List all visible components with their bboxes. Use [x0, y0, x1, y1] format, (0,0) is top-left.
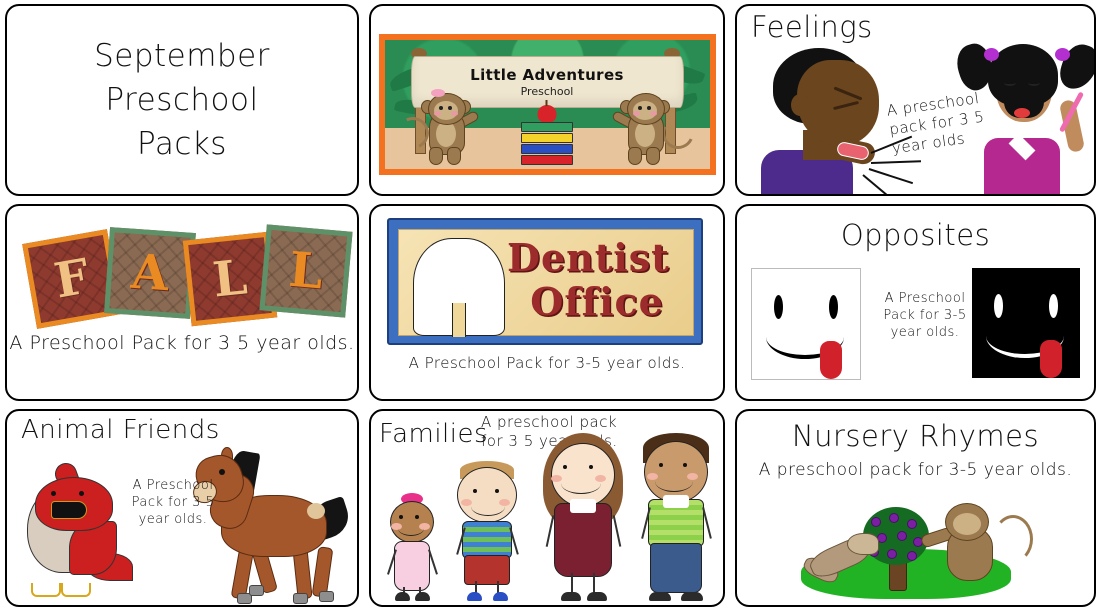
child-pants [650, 543, 702, 593]
child-shoe [649, 592, 671, 601]
child-eye [589, 465, 593, 469]
child-eye [683, 463, 687, 467]
monkey-leg [429, 147, 443, 165]
monkey-eye [647, 106, 651, 110]
nursery-rhymes-caption: A preschool pack for 3-5 year olds. [737, 461, 1094, 480]
child-smile [471, 497, 505, 516]
bird-foot [61, 583, 91, 597]
animal-friends-heading: Animal Friends [21, 415, 220, 445]
monkey-leg [628, 147, 642, 165]
tooth-icon [413, 238, 505, 336]
girl-tongue [1014, 108, 1030, 118]
banner-wrap: Little Adventures Preschool [371, 34, 723, 175]
banner-subtitle: Preschool [521, 85, 574, 98]
child-shorts [464, 555, 510, 585]
page-title-line-3: Packs [7, 122, 357, 166]
child-eye [473, 489, 477, 493]
card-fall[interactable]: F A L L A Preschool Pack for 3 5 year ol… [5, 204, 359, 401]
child-leg [593, 573, 595, 593]
hair-bow-icon [1055, 48, 1070, 61]
smiley-eye [1049, 294, 1058, 318]
child-collar [663, 495, 689, 508]
dentist-caption: A Preschool Pack for 3-5 year olds. [371, 354, 723, 373]
child-shoe [681, 592, 703, 601]
berry-icon [871, 517, 881, 527]
child-shoe [587, 592, 607, 601]
card-nursery-rhymes[interactable]: Nursery Rhymes A preschool pack for 3-5 … [735, 409, 1096, 607]
bird-eye [51, 491, 56, 496]
jungle-scene: Little Adventures Preschool [385, 40, 710, 169]
horse-hoof [249, 585, 264, 596]
child-leg [571, 573, 573, 593]
smiley-light-panel [751, 268, 861, 380]
smiley-tongue [820, 341, 842, 379]
book-stack [521, 121, 573, 165]
monkey-cheek [451, 111, 458, 116]
bird-foot [31, 583, 61, 597]
shout-line [871, 160, 921, 164]
horse-spot [307, 503, 325, 519]
monkey-left [415, 91, 477, 165]
bird-beak [51, 501, 87, 519]
mulberry-bush-scene [801, 487, 1031, 599]
monkey-eye [448, 106, 452, 110]
cell-little-adventures: Little Adventures Preschool [364, 0, 730, 200]
horse-eye [219, 469, 225, 475]
nursery-rhymes-heading: Nursery Rhymes [737, 419, 1094, 453]
card-september-preschool-packs[interactable]: September Preschool Packs [5, 4, 359, 196]
page-title-line-2: Preschool [7, 78, 357, 122]
bird-eye [79, 491, 84, 496]
monkey-eye [439, 106, 443, 110]
child-shoe [415, 592, 430, 601]
monkey-cheek [633, 111, 640, 116]
preschool-packs-grid: September Preschool Packs [0, 0, 1109, 611]
girl-eye [1004, 80, 1016, 86]
monkey-cheek [650, 111, 657, 116]
page-title-line-1: September [7, 34, 357, 78]
child-shoe [467, 592, 482, 601]
dentist-sign-text: Dentist Office [507, 236, 687, 324]
fall-caption: A Preschool Pack for 3 5 year olds. [7, 334, 357, 353]
card-little-adventures[interactable]: Little Adventures Preschool [369, 4, 725, 196]
animal-friends-caption: A Preschool Pack for 3 5 year olds. [119, 477, 227, 528]
feelings-heading: Feelings [751, 10, 873, 44]
berry-icon [889, 513, 899, 523]
smiley-eye [774, 295, 783, 319]
card-feelings[interactable]: Feelings [735, 4, 1096, 196]
angry-boy-illustration [759, 48, 879, 196]
families-heading: Families [379, 419, 488, 449]
hair-bow-icon [431, 89, 445, 97]
child-toddler-girl [381, 493, 443, 601]
monkey-cheek [434, 111, 441, 116]
child-smile [655, 471, 693, 492]
page-title: September Preschool Packs [7, 34, 357, 166]
weasel-head [847, 533, 879, 555]
child-eye [495, 489, 499, 493]
book-icon [521, 144, 573, 154]
child-eye [415, 515, 419, 519]
cell-animal-friends: Animal Friends [0, 405, 364, 611]
monkey-leg [447, 147, 461, 165]
child-boy-green [633, 433, 719, 601]
dentist-sign-panel: Dentist Office [398, 229, 694, 336]
girl-eye [1028, 80, 1040, 86]
smiley-eye [829, 295, 838, 319]
child-dress [554, 503, 612, 577]
dentist-sign-line-1: Dentist [507, 236, 687, 280]
child-arm [546, 515, 554, 547]
horse-hoof [293, 593, 308, 604]
child-girl-dress [537, 433, 629, 601]
card-opposites[interactable]: Opposites A Preschool Pack for 3-5 year … [735, 204, 1096, 401]
cell-families: Families A preschool pack for 3 5 year o… [364, 405, 730, 611]
berry-icon [897, 531, 907, 541]
child-smile [561, 473, 601, 494]
smiley-eye [994, 294, 1003, 318]
shout-line [869, 168, 913, 184]
weasel-illustration [803, 531, 879, 593]
book-icon [521, 133, 573, 143]
opposites-heading: Opposites [737, 218, 1094, 252]
child-eye [563, 465, 567, 469]
banner-title: Little Adventures [470, 66, 624, 84]
horse-hoof [319, 591, 334, 602]
monkey-right [614, 91, 676, 165]
child-shoe [493, 592, 508, 601]
dentist-sign-line-2: Office [507, 280, 687, 324]
smiley-tongue [1040, 340, 1062, 378]
child-shirt [462, 521, 512, 559]
fall-block-letter: L [259, 224, 352, 317]
cell-dentist-office: Dentist Office A Preschool Pack for 3-5 … [364, 200, 730, 405]
child-boy-striped [449, 461, 525, 601]
child-shoe [561, 592, 581, 601]
berry-icon [887, 549, 897, 559]
little-adventures-banner: Little Adventures Preschool [379, 34, 716, 175]
child-arm [612, 515, 620, 547]
monkey-illustration [921, 497, 1031, 597]
monkey-eye [638, 106, 642, 110]
cell-feelings: Feelings [730, 0, 1101, 200]
monkey-face [953, 513, 981, 535]
cell-title: September Preschool Packs [0, 0, 364, 200]
card-families[interactable]: Families A preschool pack for 3 5 year o… [369, 409, 725, 607]
monkey-tail [993, 515, 1033, 563]
child-eye [659, 463, 663, 467]
book-icon [521, 155, 573, 165]
fall-blocks: F A L L [23, 222, 353, 332]
book-icon [521, 122, 573, 132]
child-body [394, 541, 430, 591]
shout-line [862, 174, 895, 196]
card-animal-friends[interactable]: Animal Friends [5, 409, 359, 607]
cell-fall: F A L L A Preschool Pack for 3 5 year ol… [0, 200, 364, 405]
hair-bow-icon [984, 48, 999, 61]
child-collar [570, 499, 596, 513]
opposites-caption: A Preschool Pack for 3-5 year olds. [873, 290, 977, 341]
berry-icon [907, 519, 917, 529]
dentist-sign: Dentist Office [387, 218, 703, 345]
cell-opposites: Opposites A Preschool Pack for 3-5 year … [730, 200, 1101, 405]
child-smile [398, 521, 424, 536]
card-dentist-office[interactable]: Dentist Office A Preschool Pack for 3-5 … [369, 204, 725, 401]
berry-icon [907, 551, 917, 561]
child-shoe [395, 592, 410, 601]
monkey-leg [646, 147, 660, 165]
child-eye [399, 515, 403, 519]
smiley-dark-panel [972, 268, 1080, 378]
boy-ear [791, 94, 809, 116]
cell-nursery-rhymes: Nursery Rhymes A preschool pack for 3-5 … [730, 405, 1101, 611]
title-stack: September Preschool Packs [7, 6, 357, 194]
cardinal-bird-illustration [21, 459, 131, 599]
